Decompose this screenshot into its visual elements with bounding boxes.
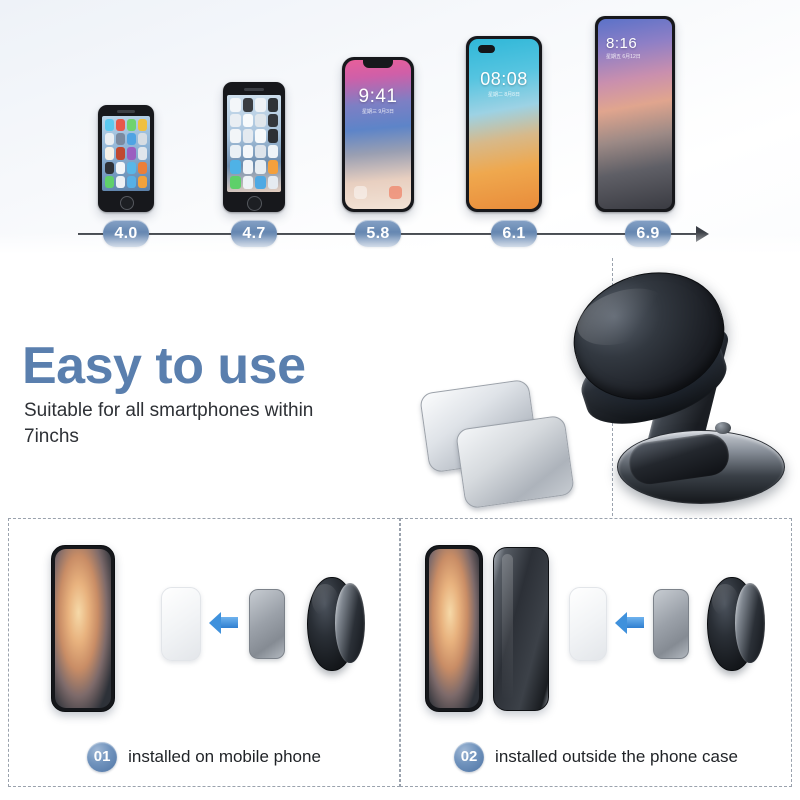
step-badge-02: 02 [454, 742, 484, 772]
size-badge-5-8: 5.8 [355, 220, 401, 247]
magnetic-car-mount-product [565, 262, 790, 512]
earpiece-icon [117, 110, 135, 113]
home-button-icon [247, 196, 262, 211]
lockscreen-date: 星期三 9月3日 [345, 108, 411, 115]
phone [425, 545, 483, 712]
phone-thumbnail-4-7 [223, 82, 285, 212]
size-badge-4-0: 4.0 [103, 220, 149, 247]
lockscreen-time: 9:41 [345, 86, 411, 108]
installation-panels: 01 installed on mobile phone [8, 518, 792, 787]
punch-hole-camera-icon [478, 45, 495, 53]
metal-plate [455, 415, 575, 510]
install-panel-01: 01 installed on mobile phone [8, 518, 400, 787]
size-badge-4-7: 4.7 [231, 220, 277, 247]
phone-screen [102, 116, 150, 191]
caption-text-01: installed on mobile phone [128, 747, 321, 767]
phone-lineup: 9:41 星期三 9月3日 08:08 星期二 8月8日 8:16 星期五 [0, 0, 800, 212]
panel-caption-02: 02 installed outside the phone case [401, 742, 791, 772]
phone-thumbnail-6-1: 08:08 星期二 8月8日 [466, 36, 542, 212]
home-button-icon [120, 196, 134, 210]
page-title: Easy to use [22, 340, 306, 392]
phone-screen: 9:41 星期三 9月3日 [345, 60, 411, 209]
size-badge-6-1: 6.1 [491, 220, 537, 247]
phone-case [493, 547, 549, 711]
phone-thumbnail-6-9: 8:16 星期五 6月12日 [595, 16, 675, 212]
metal-plate [653, 589, 689, 659]
timeline-axis [78, 233, 698, 235]
app-icon-grid [227, 95, 281, 192]
phone-wallpaper [55, 549, 111, 708]
exploded-view-02 [401, 525, 791, 725]
exploded-view-01 [9, 525, 399, 725]
size-badge-6-9: 6.9 [625, 220, 671, 247]
notch-icon [363, 60, 393, 68]
install-panel-02: 02 installed outside the phone case [400, 518, 792, 787]
protective-film [161, 587, 201, 661]
size-timeline: 4.0 4.7 5.8 6.1 6.9 [0, 212, 800, 258]
panel-caption-01: 01 installed on mobile phone [9, 742, 399, 772]
mount-pivot-knob [715, 422, 731, 434]
lockscreen-date: 星期二 8月8日 [469, 91, 539, 98]
protective-film [569, 587, 607, 661]
earpiece-icon [244, 88, 264, 91]
step-badge-01: 01 [87, 742, 117, 772]
product-infographic: 9:41 星期三 9月3日 08:08 星期二 8月8日 8:16 星期五 [0, 0, 800, 800]
phone-screen: 08:08 星期二 8月8日 [469, 39, 539, 209]
lockscreen-time: 8:16 [606, 35, 637, 52]
caption-text-02: installed outside the phone case [495, 747, 738, 767]
phone-thumbnail-5-8: 9:41 星期三 9月3日 [342, 57, 414, 212]
lockscreen-time: 08:08 [469, 69, 539, 90]
phone-screen [227, 95, 281, 192]
app-icon-grid [102, 116, 150, 191]
lockscreen-date: 星期五 6月12日 [606, 53, 641, 60]
magnet-head [307, 577, 355, 669]
camera-icon [389, 186, 402, 199]
size-comparison-banner: 9:41 星期三 9月3日 08:08 星期二 8月8日 8:16 星期五 [0, 0, 800, 258]
flashlight-icon [354, 186, 367, 199]
metal-plate [249, 589, 285, 659]
phone-screen: 8:16 星期五 6月12日 [598, 19, 672, 209]
magnet-head [707, 577, 755, 669]
arrow-right-icon [696, 226, 709, 242]
page-subtitle: Suitable for all smartphones within 7inc… [24, 398, 354, 449]
phone-wallpaper [429, 549, 479, 708]
phone [51, 545, 115, 712]
phone-thumbnail-4-0 [98, 105, 154, 212]
